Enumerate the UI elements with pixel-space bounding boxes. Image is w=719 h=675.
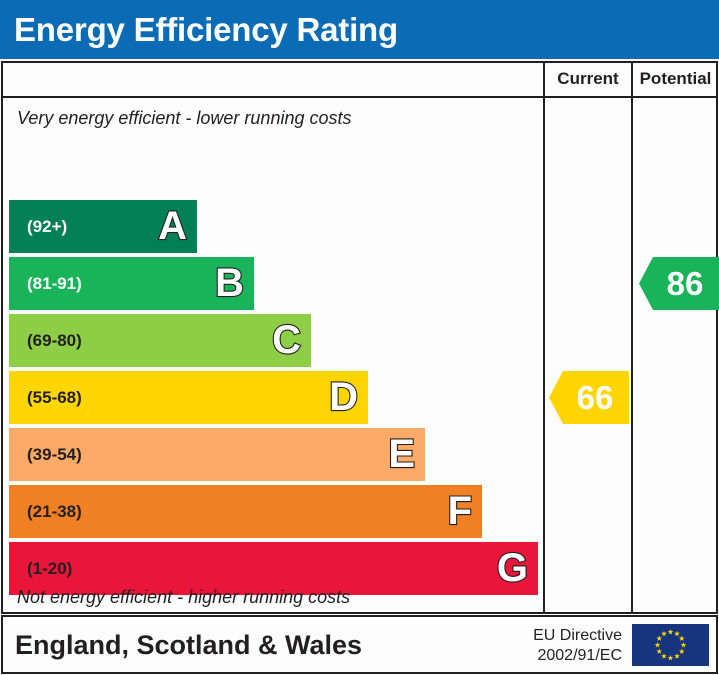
chart-body: Current Potential Very energy efficient … xyxy=(1,61,718,614)
eu-flag-icon xyxy=(632,624,709,666)
rating-band-d: (55-68)D xyxy=(9,371,368,424)
band-range-label: (92+) xyxy=(9,217,67,237)
band-letter-c: C xyxy=(272,320,301,360)
band-range-label: (21-38) xyxy=(9,502,82,522)
caption-not-efficient: Not energy efficient - higher running co… xyxy=(17,587,350,608)
column-header-current: Current xyxy=(545,69,631,89)
footer-directive: EU Directive 2002/91/EC xyxy=(533,626,622,665)
band-letter-f: F xyxy=(448,491,472,531)
rating-band-a: (92+)A xyxy=(9,200,197,253)
chart-title-bar: Energy Efficiency Rating xyxy=(0,0,719,59)
rating-marker-value-current: 66 xyxy=(565,381,614,414)
band-range-label: (1-20) xyxy=(9,559,72,579)
directive-line-2: 2002/91/EC xyxy=(533,646,622,666)
directive-line-1: EU Directive xyxy=(533,626,622,646)
band-range-label: (81-91) xyxy=(9,274,82,294)
caption-very-efficient: Very energy efficient - lower running co… xyxy=(17,108,352,129)
energy-efficiency-rating-chart: Energy Efficiency Rating Current Potenti… xyxy=(0,0,719,675)
rating-marker-value-potential: 86 xyxy=(655,267,704,300)
rating-marker-current: 66 xyxy=(549,371,629,424)
band-letter-d: D xyxy=(329,377,358,417)
page-title: Energy Efficiency Rating xyxy=(0,13,398,46)
band-range-label: (39-54) xyxy=(9,445,82,465)
rating-band-e: (39-54)E xyxy=(9,428,425,481)
band-range-label: (69-80) xyxy=(9,331,82,351)
rating-band-b: (81-91)B xyxy=(9,257,254,310)
rating-band-f: (21-38)F xyxy=(9,485,482,538)
rating-marker-potential: 86 xyxy=(639,257,719,310)
band-range-label: (55-68) xyxy=(9,388,82,408)
band-letter-b: B xyxy=(215,263,244,303)
band-letter-g: G xyxy=(497,548,528,588)
rating-band-c: (69-80)C xyxy=(9,314,311,367)
column-divider-potential xyxy=(631,63,633,612)
band-letter-a: A xyxy=(158,206,187,246)
column-divider-current xyxy=(543,63,545,612)
band-letter-e: E xyxy=(388,434,415,474)
chart-footer: England, Scotland & Wales EU Directive 2… xyxy=(1,615,718,674)
footer-region-label: England, Scotland & Wales xyxy=(15,630,362,661)
column-header-potential: Potential xyxy=(633,69,718,89)
